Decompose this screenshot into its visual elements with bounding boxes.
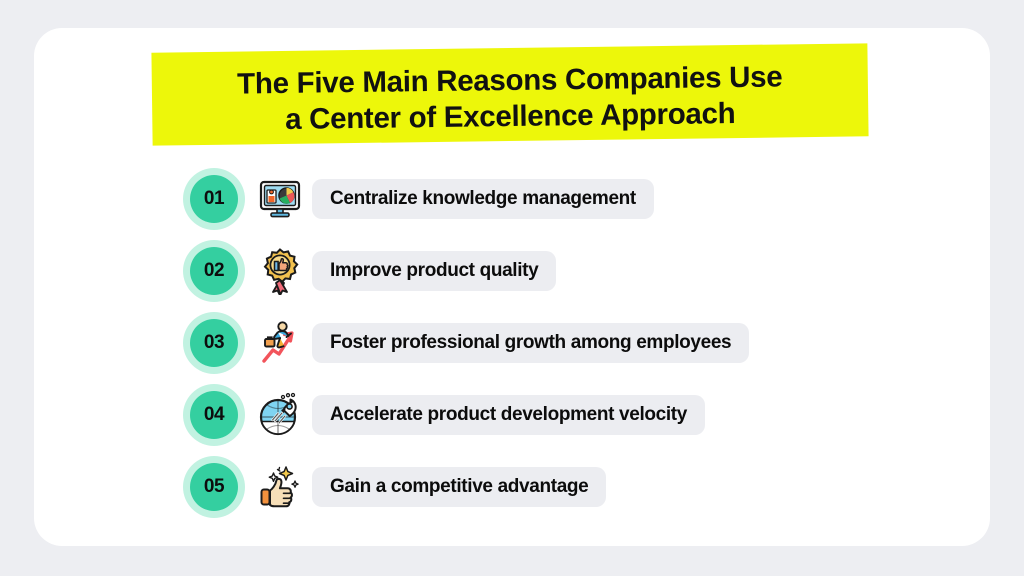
award-thumbs-up-icon — [252, 243, 308, 299]
page-title: The Five Main Reasons Companies Use a Ce… — [151, 47, 868, 149]
list-item: 05 Gain a competitive advantage — [0, 451, 1024, 523]
page-title-line-2: a Center of Excellence Approach — [285, 96, 736, 138]
badge-number: 04 — [190, 391, 238, 439]
badge-number: 05 — [190, 463, 238, 511]
list-item: 04 Accelerat — [0, 379, 1024, 451]
thumbs-up-sparkle-icon — [252, 459, 308, 515]
slide-canvas: The Five Main Reasons Companies Use a Ce… — [0, 0, 1024, 576]
person-growth-arrow-icon — [252, 315, 308, 371]
number-badge: 03 — [183, 312, 245, 374]
badge-number: 01 — [190, 175, 238, 223]
reason-label: Improve product quality — [312, 251, 556, 291]
badge-number: 03 — [190, 319, 238, 367]
reason-label: Accelerate product development velocity — [312, 395, 705, 435]
reason-label: Centralize knowledge management — [312, 179, 654, 219]
number-badge: 02 — [183, 240, 245, 302]
monitor-pie-chart-icon — [252, 171, 308, 227]
list-item: 02 Improve product quality — [0, 235, 1024, 307]
list-item: 01 Centralize knowledge management — [0, 163, 1024, 235]
number-badge: 05 — [183, 456, 245, 518]
rocket-globe-icon — [252, 387, 308, 443]
reason-label: Gain a competitive advantage — [312, 467, 606, 507]
number-badge: 01 — [183, 168, 245, 230]
reasons-list: 01 Centralize knowledge management — [0, 163, 1024, 523]
number-badge: 04 — [183, 384, 245, 446]
list-item: 03 Foster professional growth among empl… — [0, 307, 1024, 379]
reason-label: Foster professional growth among employe… — [312, 323, 749, 363]
badge-number: 02 — [190, 247, 238, 295]
